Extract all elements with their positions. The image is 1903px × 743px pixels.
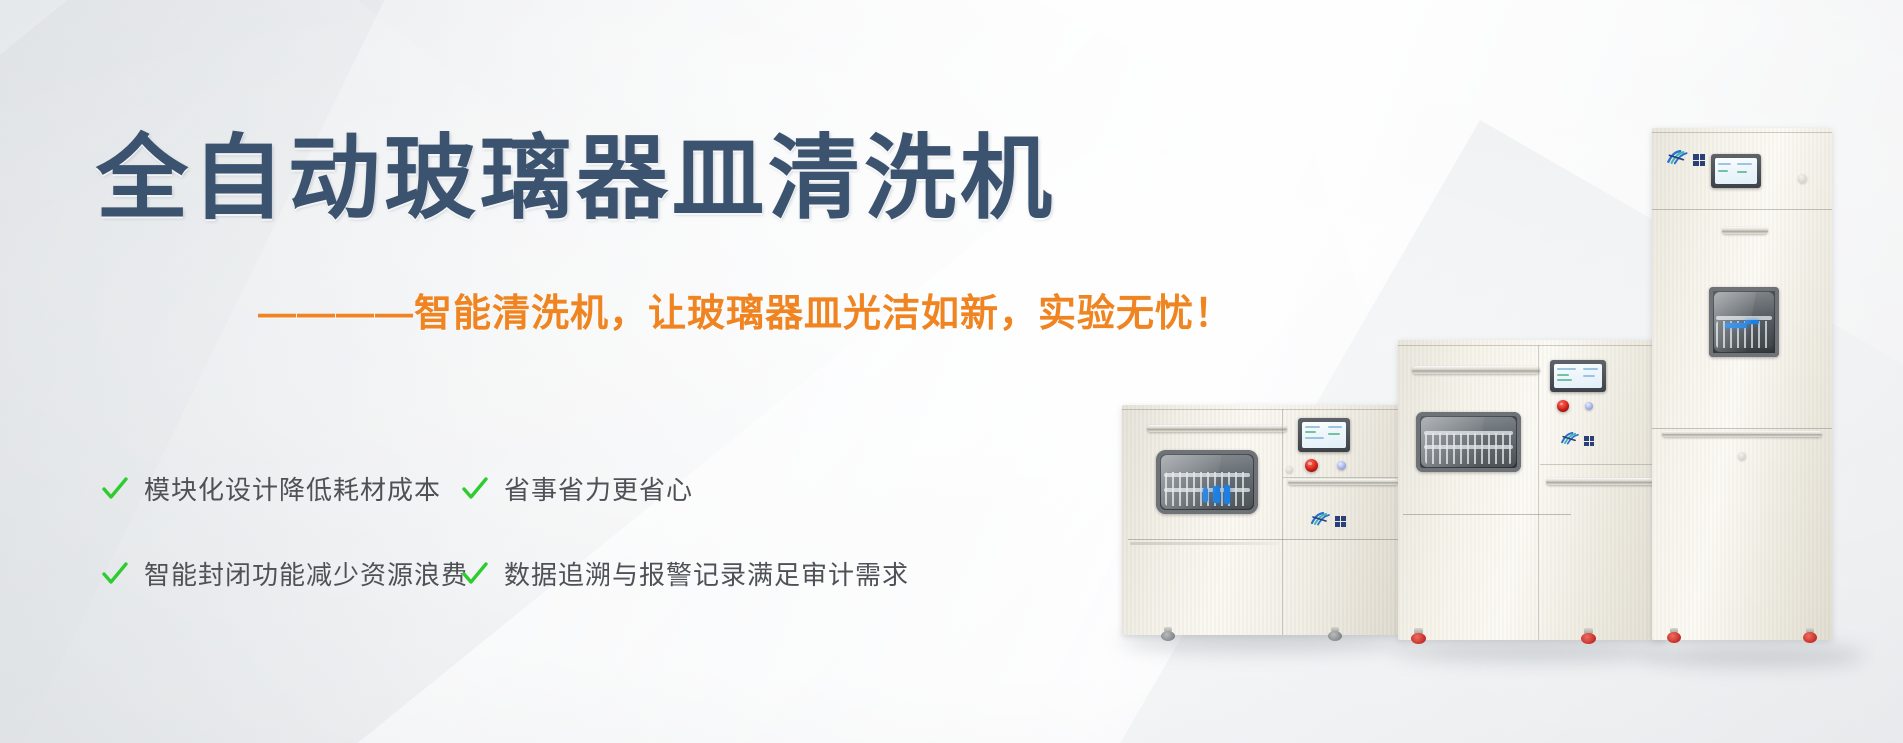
feature-item: 模块化设计降低耗材成本 xyxy=(100,470,460,507)
check-icon xyxy=(100,474,130,504)
feature-text: 智能封闭功能减少资源浪费 xyxy=(144,555,468,592)
viewing-window xyxy=(1156,450,1258,514)
control-touchscreen[interactable] xyxy=(1298,418,1350,452)
viewing-window xyxy=(1709,287,1779,357)
feature-list: 模块化设计降低耗材成本 省事省力更省心 智能封闭功能减少资源浪费 数据追溯 xyxy=(100,470,1100,640)
feature-row: 模块化设计降低耗材成本 省事省力更省心 xyxy=(100,470,1100,507)
status-indicator[interactable] xyxy=(1798,174,1807,183)
machine-shadow xyxy=(1645,645,1865,667)
check-icon xyxy=(100,559,130,589)
feature-row: 智能封闭功能减少资源浪费 数据追溯与报警记录满足审计需求 xyxy=(100,555,1100,592)
caster-wheel xyxy=(1580,628,1597,644)
feature-text: 模块化设计降低耗材成本 xyxy=(144,470,441,507)
h-wave-logo-icon xyxy=(1310,512,1332,526)
lower-door-handle xyxy=(1662,431,1822,437)
caster-wheel xyxy=(1410,628,1427,644)
product-banner: 全自动玻璃器皿清洗机 ————智能清洗机，让玻璃器皿光洁如新，实验无忧！ 模块化… xyxy=(0,0,1903,743)
feature-text: 数据追溯与报警记录满足审计需求 xyxy=(504,555,909,592)
caster-wheel xyxy=(1802,628,1818,643)
feature-item: 数据追溯与报警记录满足审计需求 xyxy=(460,555,909,592)
machine-shadow xyxy=(1120,630,1410,652)
lower-door-lock[interactable] xyxy=(1738,452,1746,460)
machine-shadow xyxy=(1395,640,1665,662)
caster-wheel xyxy=(1666,628,1682,643)
banner-subtitle: ————智能清洗机，让玻璃器皿光洁如新，实验无忧！ xyxy=(258,282,1233,337)
control-touchscreen[interactable] xyxy=(1550,360,1606,392)
door-handle xyxy=(1412,366,1540,374)
emergency-stop-button[interactable] xyxy=(1557,400,1569,412)
glassware-washer-1 xyxy=(1122,405,1404,635)
power-indicator-button[interactable] xyxy=(1585,402,1593,410)
lower-panel-handle xyxy=(1288,479,1398,485)
feature-item: 智能封闭功能减少资源浪费 xyxy=(100,555,460,592)
check-icon xyxy=(460,559,490,589)
control-touchscreen[interactable] xyxy=(1711,154,1761,188)
brand-logo xyxy=(1560,432,1594,450)
glassware-washer-3 xyxy=(1652,128,1832,640)
door-handle xyxy=(1147,425,1287,432)
brand-logo xyxy=(1310,512,1346,531)
caster-wheel xyxy=(1327,627,1343,641)
feature-text: 省事省力更省心 xyxy=(504,470,693,507)
power-indicator-button[interactable] xyxy=(1337,461,1346,470)
h-wave-logo-icon xyxy=(1666,150,1690,165)
door-handle xyxy=(1722,227,1768,234)
brand-logo xyxy=(1666,150,1705,170)
lower-panel-handle xyxy=(1546,478,1656,485)
caster-wheel xyxy=(1160,627,1176,641)
emergency-stop-button[interactable] xyxy=(1305,459,1318,472)
glassware-washer-2 xyxy=(1398,340,1666,640)
feature-item: 省事省力更省心 xyxy=(460,470,693,507)
h-wave-logo-icon xyxy=(1560,432,1581,445)
small-control-knob[interactable] xyxy=(1286,466,1293,473)
check-icon xyxy=(460,474,490,504)
viewing-window xyxy=(1416,412,1521,472)
banner-title: 全自动玻璃器皿清洗机 xyxy=(96,104,1056,237)
